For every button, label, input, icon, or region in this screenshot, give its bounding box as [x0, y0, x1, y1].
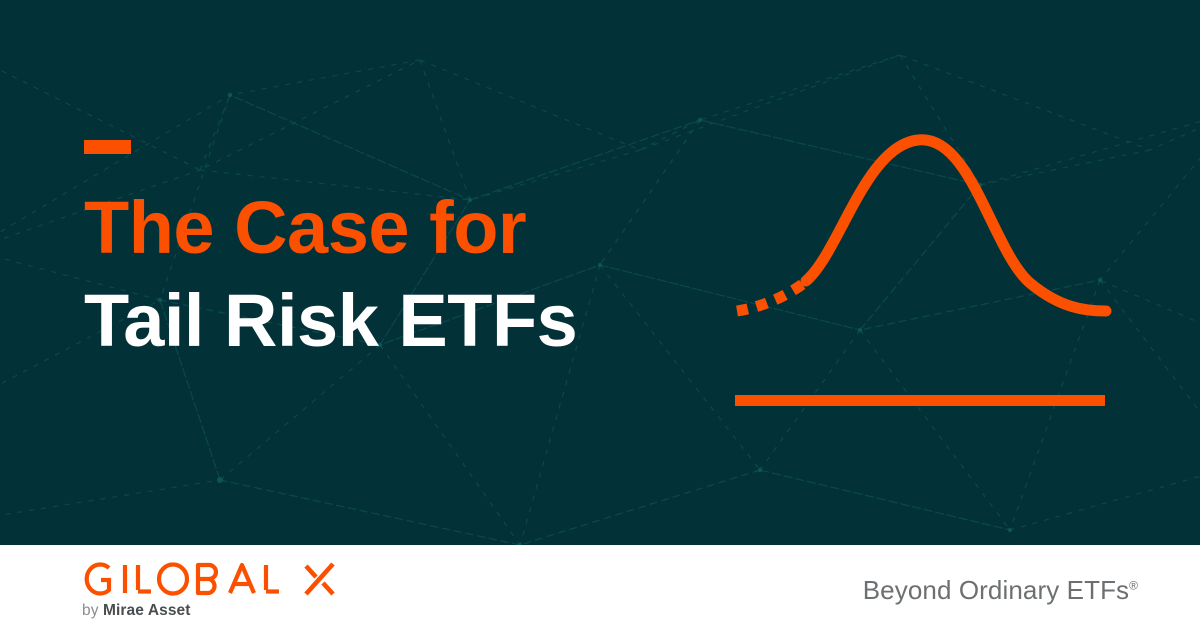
hero-section: The Case for Tail Risk ETFs: [0, 0, 1200, 545]
byline-brand: Mirae Asset: [103, 602, 191, 619]
headline-line-2: Tail Risk ETFs: [84, 283, 704, 360]
curve-solid-bell: [806, 140, 1106, 311]
global-x-wordmark-icon: [80, 557, 350, 601]
banner-graphic: The Case for Tail Risk ETFs: [0, 0, 1200, 630]
registered-trademark-icon: ®: [1129, 578, 1138, 592]
tagline: Beyond Ordinary ETFs®: [863, 575, 1138, 606]
tail-risk-distribution-curve-icon: [700, 100, 1140, 430]
x-mark-icon: [306, 564, 333, 594]
logo-byline: by Mirae Asset: [82, 602, 191, 620]
tagline-text: Beyond Ordinary ETFs: [863, 575, 1129, 605]
headline-block: The Case for Tail Risk ETFs: [84, 140, 704, 360]
headline-line-1: The Case for: [84, 190, 704, 267]
curve-dashed-tail: [737, 280, 808, 311]
global-x-logo[interactable]: by Mirae Asset: [80, 557, 360, 623]
footer-bar: by Mirae Asset Beyond Ordinary ETFs®: [0, 545, 1200, 630]
curve-baseline-bar: [735, 395, 1105, 406]
byline-prefix: by: [82, 602, 99, 619]
accent-rule: [84, 140, 131, 154]
